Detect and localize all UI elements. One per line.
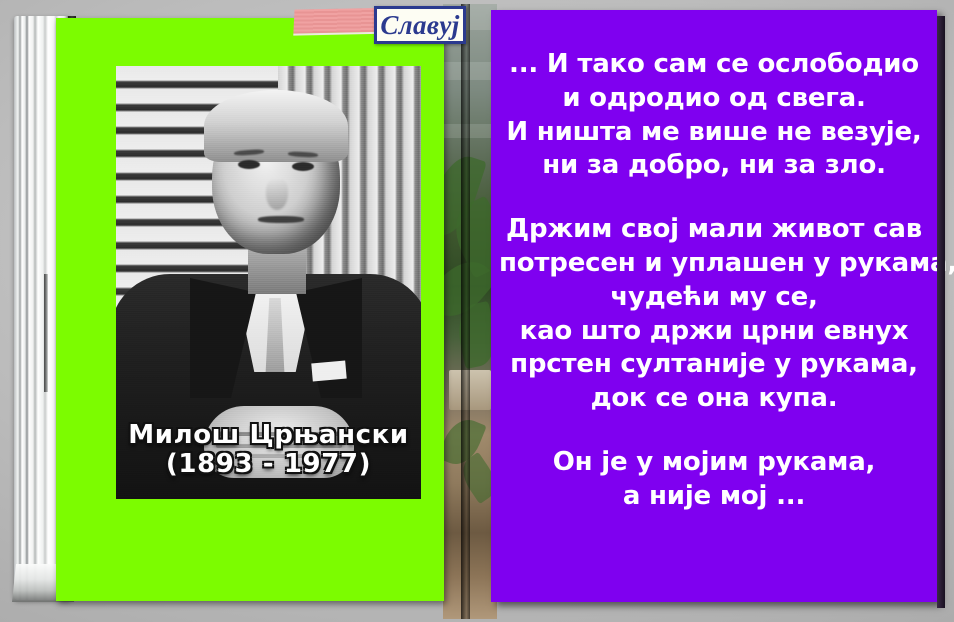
caption-line-years: (1893 - 1977) [116, 450, 421, 479]
portrait-caption: Милош Црњански (1893 - 1977) [116, 421, 421, 479]
poem-line: ... И тако сам се ослободио [499, 48, 929, 82]
poem-stanza-3: Он је у мојим рукама, а није мој ... [499, 446, 929, 514]
poem-line: а није мој ... [499, 480, 929, 514]
poem-line: као што држи црни евнух [499, 315, 929, 349]
poem-line: чудећи му се, [499, 281, 929, 315]
poem-line: прстен султаније у рукама, [499, 348, 929, 382]
right-page-purple: ... И тако сам се ослободио и одродио од… [491, 10, 937, 602]
poem-line: Он је у мојим рукама, [499, 446, 929, 480]
poem-line: потресен и уплашен у рукама, [499, 247, 929, 281]
open-book: Милош Црњански (1893 - 1977) Славуј ... … [6, 4, 944, 610]
caption-line-name: Милош Црњански [116, 421, 421, 450]
gutter-shadow [461, 4, 470, 619]
slide-stage: Милош Црњански (1893 - 1977) Славуј ... … [0, 0, 954, 622]
poem-line: ни за добро, ни за зло. [499, 149, 929, 183]
poem-line: И ништа ме више не везује, [499, 116, 929, 150]
poem-stanza-1: ... И тако сам се ослободио и одродио од… [499, 48, 929, 183]
slavuj-logo-text: Славуј [380, 12, 459, 39]
poem-text-block: ... И тако сам се ослободио и одродио од… [499, 48, 929, 514]
poem-line: и одродио од свега. [499, 82, 929, 116]
gutter-background-photo [443, 4, 497, 619]
left-page-green: Милош Црњански (1893 - 1977) [56, 18, 444, 601]
slavuj-logo-badge[interactable]: Славуј [374, 6, 466, 44]
poem-stanza-2: Држим свој мали живот сав потресен и упл… [499, 213, 929, 416]
portrait-photo: Милош Црњански (1893 - 1977) [116, 66, 421, 499]
poem-line: док се она купа. [499, 382, 929, 416]
poem-line: Држим свој мали живот сав [499, 213, 929, 247]
